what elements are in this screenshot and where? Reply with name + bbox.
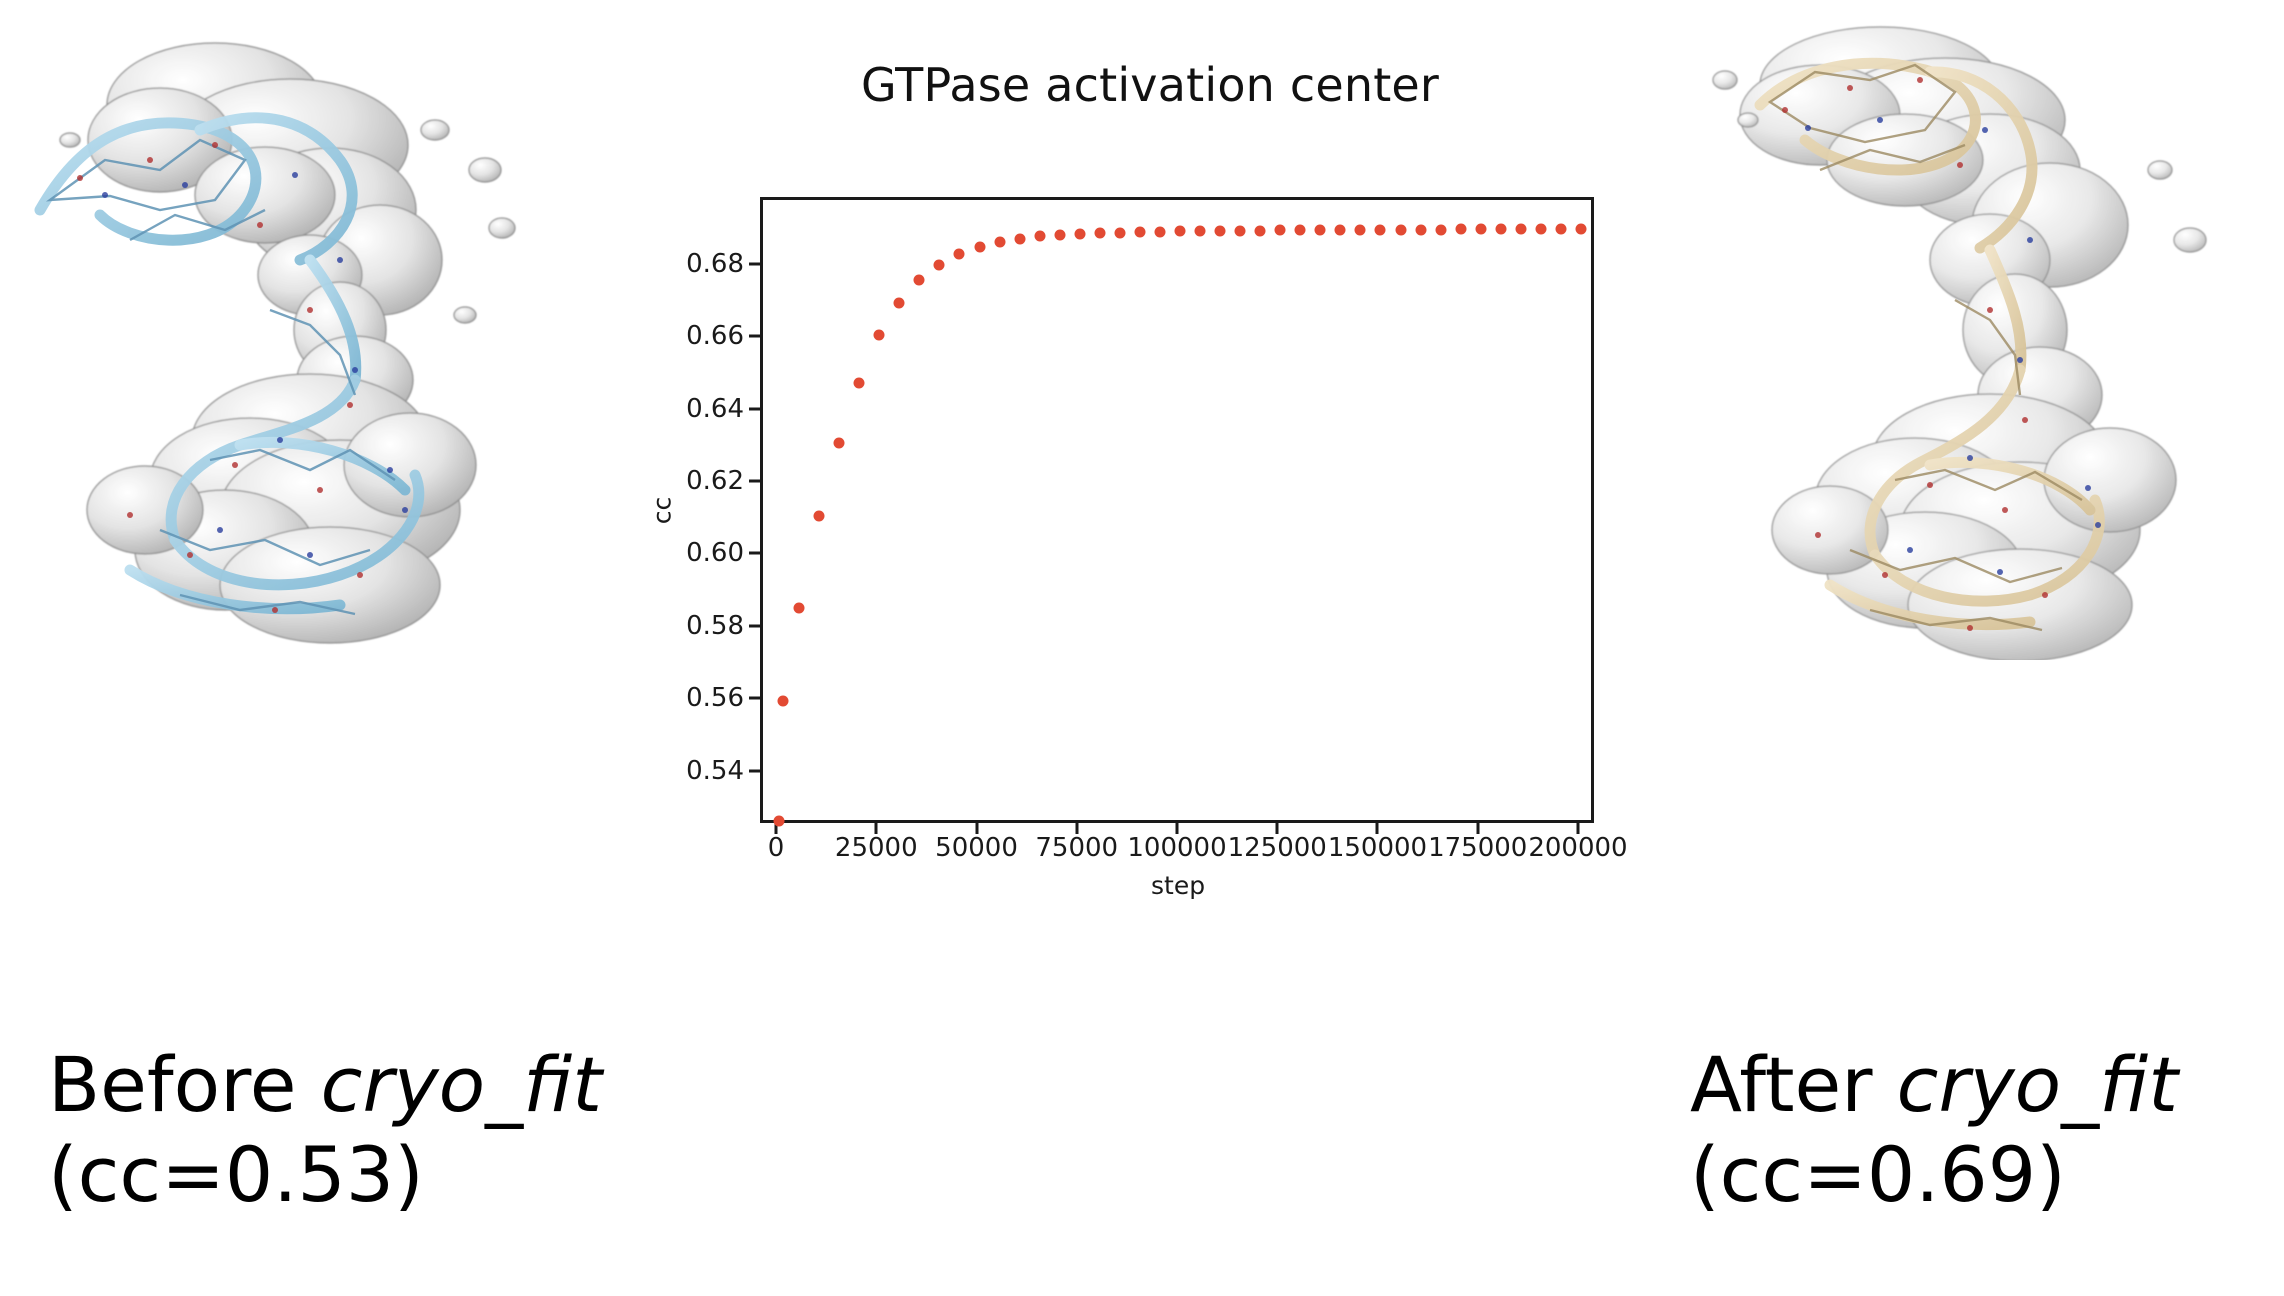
data-point [1415, 224, 1426, 235]
after-caption-line1: After cryo_fit [1690, 1040, 2178, 1130]
x-tick-label: 175000 [1428, 833, 1527, 863]
x-tick-mark [975, 823, 978, 834]
y-tick-mark [749, 262, 760, 265]
x-tick-mark [1576, 823, 1579, 834]
y-tick-mark [749, 335, 760, 338]
x-tick-mark [1376, 823, 1379, 834]
x-tick-label: 75000 [1035, 833, 1118, 863]
data-point [1355, 225, 1366, 236]
data-point [1014, 233, 1025, 244]
after-molecule-render [1690, 10, 2270, 660]
before-caption-prefix: Before [48, 1040, 321, 1129]
y-tick-label: 0.58 [686, 611, 744, 641]
x-tick-mark [1176, 823, 1179, 834]
y-tick-mark [749, 480, 760, 483]
data-point [1215, 226, 1226, 237]
before-caption-line1: Before cryo_fit [48, 1040, 602, 1130]
data-point [1575, 223, 1586, 234]
x-tick-label: 200000 [1528, 833, 1627, 863]
x-tick-label: 0 [768, 833, 785, 863]
data-point [914, 275, 925, 286]
data-point [954, 249, 965, 260]
y-tick-label: 0.56 [686, 683, 744, 713]
data-point [1535, 224, 1546, 235]
after-cryo-fit-molecule [1690, 10, 2270, 660]
data-point [1515, 224, 1526, 235]
data-point [1074, 228, 1085, 239]
x-tick-label: 25000 [835, 833, 918, 863]
x-axis-ticks: 0250005000075000100000125000150000175000… [760, 823, 1594, 883]
plot-area [763, 200, 1591, 820]
y-tick-mark [749, 552, 760, 555]
chart-title: GTPase activation center [640, 58, 1660, 112]
after-caption-italic: cryo_fit [1897, 1040, 2178, 1129]
data-point [1054, 229, 1065, 240]
data-point [1175, 226, 1186, 237]
data-point [1475, 224, 1486, 235]
data-point [1495, 224, 1506, 235]
y-tick-label: 0.62 [686, 466, 744, 496]
after-caption-prefix: After [1690, 1040, 1897, 1129]
data-point [1275, 225, 1286, 236]
data-point [894, 298, 905, 309]
data-point [1435, 224, 1446, 235]
data-point [974, 242, 985, 253]
after-cryo-fit-caption: After cryo_fit (cc=0.69) [1690, 1040, 2178, 1219]
y-tick-label: 0.66 [686, 321, 744, 351]
y-tick-mark [749, 769, 760, 772]
y-tick-label: 0.68 [686, 249, 744, 279]
data-point [1114, 227, 1125, 238]
y-tick-label: 0.64 [686, 394, 744, 424]
before-cryo-fit-molecule [10, 10, 630, 650]
x-tick-label: 125000 [1228, 833, 1327, 863]
y-tick-label: 0.60 [686, 538, 744, 568]
data-point [1455, 224, 1466, 235]
x-tick-mark [1276, 823, 1279, 834]
data-point [1034, 231, 1045, 242]
before-caption-line2: (cc=0.53) [48, 1130, 602, 1220]
x-tick-label: 150000 [1328, 833, 1427, 863]
y-axis-ticks: 0.540.560.580.600.620.640.660.68 [640, 197, 760, 823]
data-point [874, 329, 885, 340]
data-point [774, 815, 785, 826]
data-point [834, 438, 845, 449]
before-molecule-render [10, 10, 630, 650]
data-point [1555, 224, 1566, 235]
y-tick-mark [749, 624, 760, 627]
data-point [1255, 225, 1266, 236]
data-point [1134, 227, 1145, 238]
x-tick-label: 50000 [935, 833, 1018, 863]
data-point [794, 602, 805, 613]
x-tick-mark [1075, 823, 1078, 834]
x-tick-label: 100000 [1127, 833, 1226, 863]
data-point [1395, 224, 1406, 235]
after-caption-line2: (cc=0.69) [1690, 1130, 2178, 1220]
y-tick-label: 0.54 [686, 756, 744, 786]
data-point [1335, 225, 1346, 236]
data-point [854, 377, 865, 388]
plot-frame [760, 197, 1594, 823]
data-point [814, 510, 825, 521]
data-point [1235, 226, 1246, 237]
y-tick-mark [749, 697, 760, 700]
before-caption-italic: cryo_fit [321, 1040, 602, 1129]
data-point [1375, 224, 1386, 235]
data-point [1154, 226, 1165, 237]
data-point [1295, 225, 1306, 236]
x-tick-mark [1476, 823, 1479, 834]
before-cryo-fit-caption: Before cryo_fit (cc=0.53) [48, 1040, 602, 1219]
data-point [1315, 225, 1326, 236]
data-point [778, 696, 789, 707]
y-tick-mark [749, 407, 760, 410]
data-point [994, 237, 1005, 248]
x-tick-mark [875, 823, 878, 834]
data-point [1195, 226, 1206, 237]
data-point [1094, 227, 1105, 238]
data-point [934, 260, 945, 271]
cc-vs-step-chart: GTPase activation center cc step 0.540.5… [640, 30, 1660, 870]
